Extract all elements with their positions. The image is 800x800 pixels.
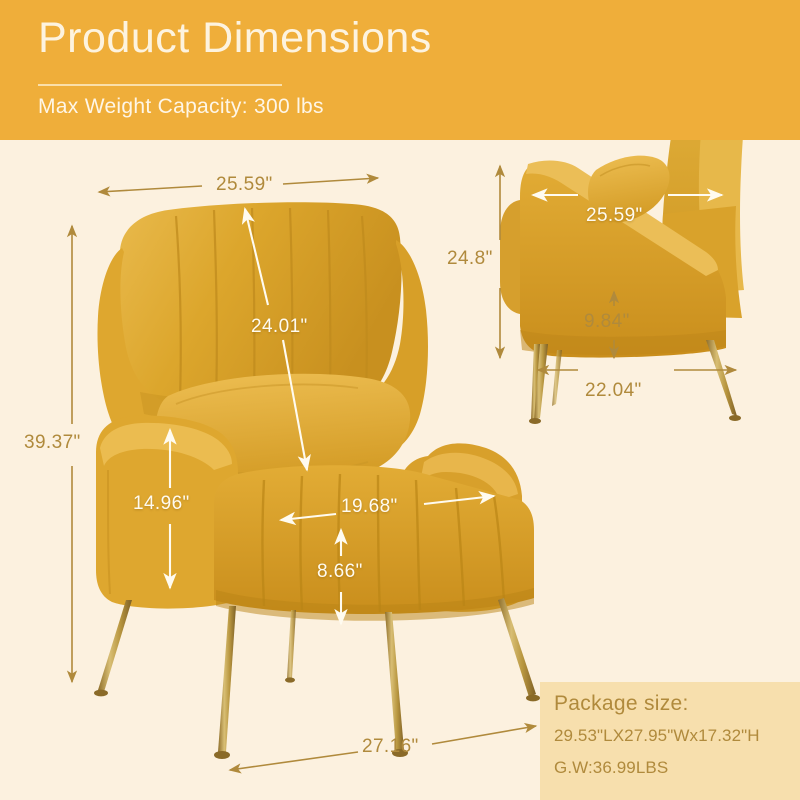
header-divider xyxy=(38,84,282,86)
max-weight-capacity-label: Max Weight Capacity: 300 lbs xyxy=(38,95,324,119)
front-seat-thickness-label: 8.66" xyxy=(317,561,363,583)
front-seatwidth-line-left xyxy=(281,514,336,520)
package-gross-weight: G.W:36.99LBS xyxy=(554,758,668,778)
front-backheight-line-top xyxy=(245,209,268,305)
side-base-width-label: 22.04" xyxy=(585,380,642,402)
front-top-width-label: 25.59" xyxy=(216,174,273,196)
front-backheight-line-bottom xyxy=(283,340,307,470)
front-seatwidth-line-right xyxy=(424,496,494,504)
package-size-title: Package size: xyxy=(554,692,689,716)
front-legspan-line-left xyxy=(230,752,358,770)
front-seat-width-label: 19.68" xyxy=(341,496,398,518)
package-size-box: Package size: 29.53"LX27.95"Wx17.32"H G.… xyxy=(540,682,800,800)
front-arm-height-label: 14.96" xyxy=(133,493,190,515)
front-leg-span-label: 27.16" xyxy=(362,736,419,758)
product-dimensions-infographic: Product Dimensions Max Weight Capacity: … xyxy=(0,0,800,800)
front-back-height-label: 24.01" xyxy=(251,316,308,338)
package-size-dimensions: 29.53"LX27.95"Wx17.32"H xyxy=(554,726,760,746)
side-leg-height-label: 9.84" xyxy=(584,311,630,333)
front-legspan-line-right xyxy=(432,726,536,744)
side-depth-label: 25.59" xyxy=(586,205,643,227)
front-total-height-label: 39.37" xyxy=(24,432,81,454)
front-top-width-line-left xyxy=(99,186,202,192)
page-title: Product Dimensions xyxy=(38,14,432,63)
side-height-label: 24.8" xyxy=(447,248,493,270)
front-chair-graphic xyxy=(94,202,540,759)
front-top-width-line-right xyxy=(283,178,378,184)
